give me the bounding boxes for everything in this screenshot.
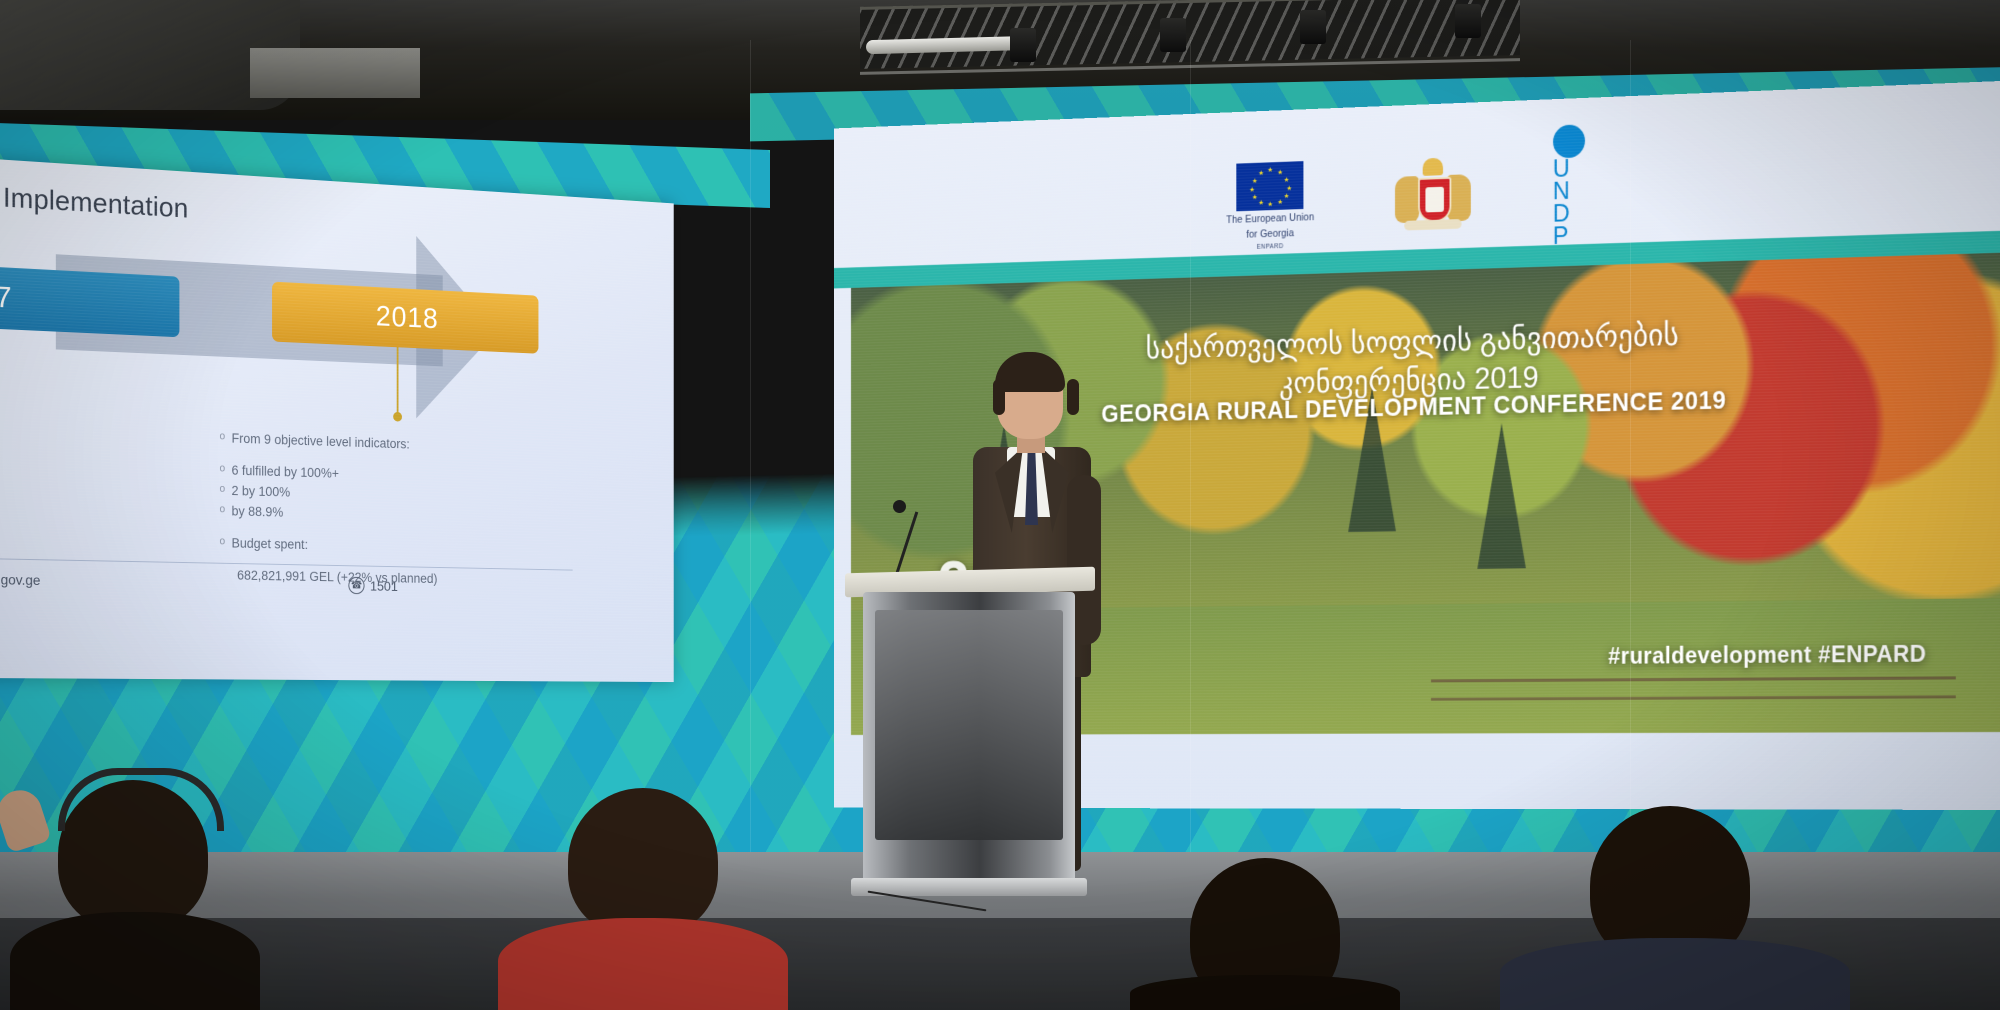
conference-stage-scene: ults of the Strategy Implementation 2017…: [0, 0, 2000, 1010]
georgia-coat-of-arms-logo: [1393, 155, 1473, 247]
eu-flag-logo: ★ ★ ★ ★ ★ ★ ★ ★ ★ ★ ★ ★: [1226, 161, 1314, 251]
audience-shoulders: [1130, 975, 1400, 1010]
timeline-label-2017: 2017: [0, 278, 13, 315]
speaker-hair-side: [993, 379, 1005, 415]
timeline-label-2018: 2018: [376, 300, 439, 335]
undp-globe-icon: [1553, 124, 1585, 158]
slide-website-link[interactable]: www.mepa.gov.ge: [0, 570, 40, 588]
slide-phone-number: 1501: [370, 578, 398, 594]
lion-left-icon: [1395, 176, 1419, 223]
conference-hashtags: #ruraldevelopment #ENPARD: [1608, 641, 1926, 670]
spotlight-icon: [1300, 10, 1326, 44]
speaker-hair-side: [1067, 379, 1079, 415]
led-panel-seam: [750, 40, 751, 860]
timeline-pin-2018: [397, 347, 399, 414]
shield-icon: [1418, 177, 1451, 223]
slide-column-right: From 9 objective level indicators: 6 ful…: [217, 428, 590, 591]
timeline-bar-2018: 2018: [272, 282, 538, 354]
column-left-heading: level indicators:: [0, 412, 161, 447]
speaker-hair: [995, 352, 1065, 392]
eu-flag-icon: ★ ★ ★ ★ ★ ★ ★ ★ ★ ★ ★ ★: [1237, 161, 1304, 211]
presentation-slide-panel: ults of the Strategy Implementation 2017…: [0, 158, 674, 682]
spotlight-icon: [1455, 4, 1481, 38]
shield-inner: [1425, 187, 1444, 213]
scroll-banner-icon: [1404, 219, 1461, 231]
audience-head: [568, 788, 718, 936]
audience-shoulders: [1500, 938, 1850, 1010]
crown-icon: [1422, 158, 1442, 176]
led-scanline-overlay: [0, 158, 674, 682]
eu-logo-caption-line3: ENPARD: [1257, 243, 1284, 251]
slide-column-left: level indicators: d by 100% or 100%+; d …: [0, 411, 161, 552]
column-left-budget-value: GEL (+38.3% vs planned): [0, 523, 161, 553]
audience-shoulders: [498, 918, 788, 1010]
timeline-pin-dot-2018: [393, 412, 402, 422]
podium-front-panel: [875, 610, 1063, 840]
audience-shoulders: [10, 912, 260, 1010]
podium: [845, 570, 1095, 920]
conifer-tree-icon: [1477, 423, 1526, 569]
slide-phone: ☎ 1501: [348, 577, 397, 595]
phone-icon: ☎: [348, 577, 364, 594]
eu-logo-caption-line2: for Georgia: [1246, 227, 1294, 241]
led-panel-seam: [1630, 40, 1631, 860]
microphone-icon: [893, 500, 906, 513]
slide-background: ults of the Strategy Implementation 2017…: [0, 158, 674, 682]
eu-logo-caption-line1: The European Union: [1226, 212, 1314, 227]
led-panel-seam: [1190, 40, 1191, 860]
